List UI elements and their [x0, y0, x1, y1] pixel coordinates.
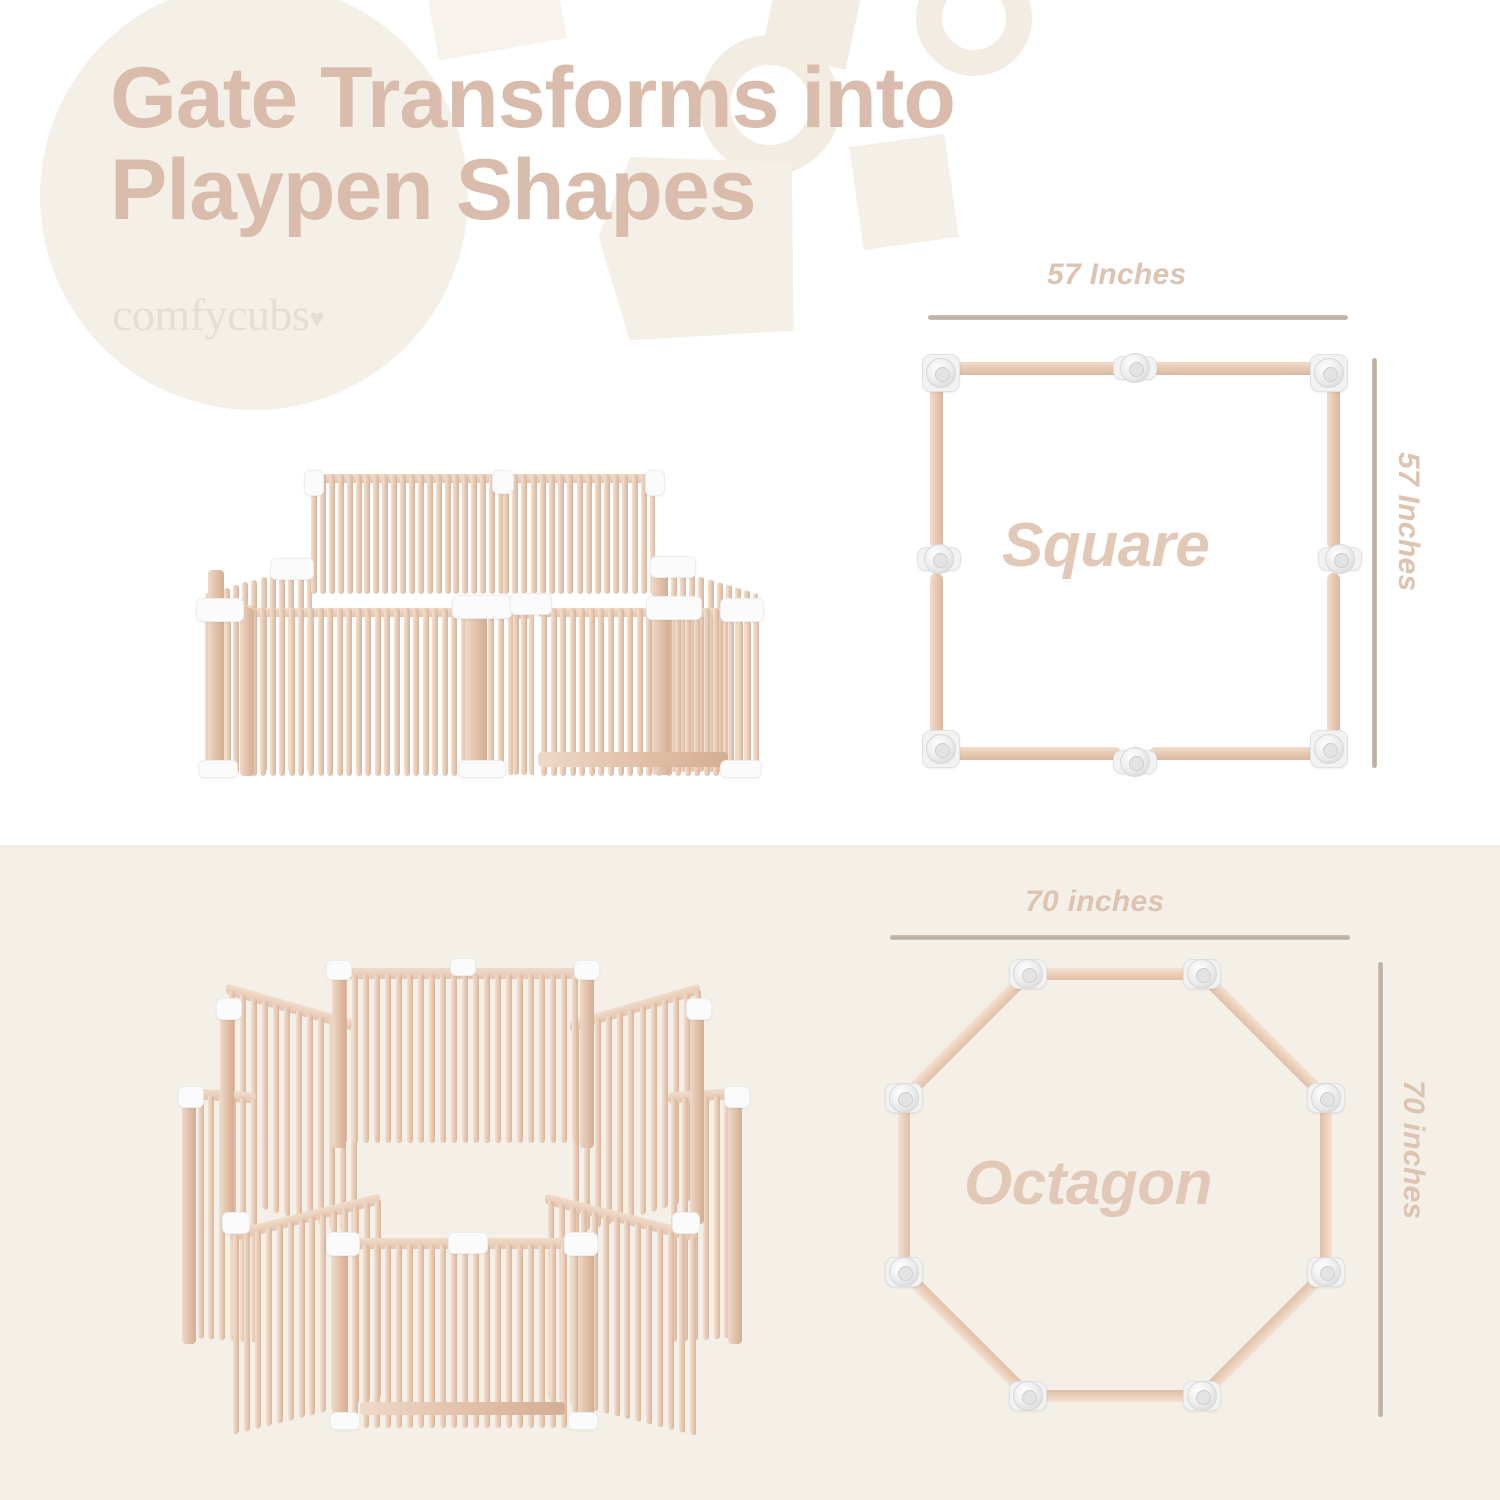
- octagon-vertex-knob-6: [1013, 1381, 1043, 1411]
- oct-panel-front-left-slat: [244, 1232, 250, 1432]
- oct-panel-front-slat: [539, 1244, 545, 1428]
- oct-panel-front-slat: [385, 1244, 391, 1428]
- oct-post-left-upper: [220, 1002, 234, 1224]
- oct-panel-front-slat: [407, 1244, 413, 1428]
- octagon-height-label: 70 inches: [1396, 1080, 1430, 1219]
- pen-panel-front-right-slat: [541, 608, 547, 776]
- oct-panel-front-slat: [495, 1244, 501, 1428]
- octagon-segment-8: [908, 978, 1024, 1094]
- oct-hinge-back-right: [574, 960, 600, 980]
- pen-hinge-back-top-right: [645, 470, 665, 496]
- pen-panel-back-center-left-slat: [480, 474, 486, 594]
- pen-panel-front-left-slat: [375, 608, 381, 776]
- octagon-segment-6: [908, 1276, 1024, 1392]
- square-bar-bottom-left: [940, 747, 1121, 760]
- square-height-label: 57 Inches: [1391, 452, 1425, 591]
- pen-panel-back-center-right-slat: [512, 474, 518, 594]
- pen-hinge-front-left-corner: [196, 598, 244, 622]
- pen-panel-front-right-slat: [627, 608, 633, 776]
- oct-panel-back-slat: [418, 974, 424, 1143]
- oct-panel-front-slat: [462, 1244, 468, 1428]
- octagon-segment-1: [1039, 968, 1192, 980]
- oct-panel-back-slat: [572, 974, 578, 1143]
- oct-panel-back-right-slat: [662, 999, 668, 1210]
- oct-panel-back-right-slat: [606, 1015, 612, 1226]
- oct-panel-back-slat: [561, 974, 567, 1143]
- square-mid-hinge-right-knob: [1325, 544, 1355, 574]
- oct-panel-front-slat: [396, 1244, 402, 1428]
- square-bar-left-bottom: [930, 573, 943, 746]
- pen-panel-back-center-right-slat: [531, 474, 537, 594]
- pen-panel-front-left-slat: [270, 608, 276, 776]
- pen-panel-front-gate-edge-slat: [529, 610, 534, 775]
- pen-panel-back-center-right-slat: [577, 474, 583, 594]
- pen-panel-front-left-slat: [298, 608, 304, 776]
- pen-panel-back-center-right-slat: [632, 474, 638, 594]
- oct-panel-front-slat: [506, 1244, 512, 1428]
- pen-panel-front-right-slat: [579, 608, 585, 776]
- square-mid-hinge-left-knob: [924, 544, 954, 574]
- oct-hinge-front-right-outer: [672, 1212, 700, 1234]
- oct-panel-back-slat: [374, 974, 380, 1143]
- oct-panel-back-slat: [462, 974, 468, 1143]
- oct-panel-back-slat: [440, 974, 446, 1143]
- octagon-segment-7: [898, 1109, 910, 1262]
- pen-panel-back-center-left-slat: [436, 474, 442, 594]
- oct-panel-back-left-slat: [262, 1000, 268, 1211]
- octagon-vertex-knob-4: [1311, 1257, 1341, 1287]
- pen-panel-front-gate-edge: [510, 610, 534, 775]
- pen-panel-front-left-slat: [327, 608, 333, 776]
- pen-panel-back-center-right-slat: [549, 474, 555, 594]
- oct-panel-front-left-slat: [288, 1221, 294, 1421]
- pen-panel-front-left-slat: [413, 608, 419, 776]
- pen-hinge-front-right-corner: [646, 596, 702, 620]
- oct-panel-back-slat: [495, 974, 501, 1143]
- oct-panel-front-left-slat: [309, 1215, 315, 1415]
- pen-panel-side-right-slat: [754, 608, 759, 776]
- pen-panel-back-center-right-slat: [595, 474, 601, 594]
- pen-panel-front-left-slat: [432, 608, 438, 776]
- octagon-segment-2: [1206, 978, 1322, 1094]
- oct-panel-front-slat: [418, 1244, 424, 1428]
- pen-hinge-back-top-left: [304, 470, 324, 496]
- octagon-width-measure-line: [890, 935, 1350, 940]
- pen-panel-front-left-slat: [337, 608, 343, 776]
- pen-panel-back-center-left-slat: [373, 474, 379, 594]
- pen-panel-back-center-left-slat: [453, 474, 459, 594]
- square-shape-diagram: Square: [920, 352, 1350, 770]
- oct-panel-back: [338, 968, 588, 1143]
- oct-post-right-upper: [690, 1002, 704, 1224]
- pen-panel-front-left-slat: [356, 608, 362, 776]
- oct-panel-back-slat: [484, 974, 490, 1143]
- oct-panel-front-slat: [517, 1244, 523, 1428]
- oct-panel-back-left-slat: [307, 1012, 313, 1223]
- pen-panel-front-gate-post-slat: [498, 610, 504, 775]
- oct-panel-left-slat: [198, 1094, 204, 1338]
- oct-panel-front-right-slat: [690, 1235, 696, 1435]
- pen-panel-front-right-slat: [675, 608, 681, 776]
- pen-panel-front-right-slat: [694, 608, 700, 776]
- square-bar-right-bottom: [1327, 573, 1340, 746]
- oct-panel-back-left-slat: [284, 1006, 290, 1217]
- pen-panel-back-center-right-slat: [622, 474, 628, 594]
- pen-panel-front-left: [238, 608, 466, 776]
- pen-panel-back-center-left-slat: [329, 474, 335, 594]
- pen-hinge-front-center-right: [510, 593, 552, 615]
- square-bar-bottom-right: [1149, 747, 1330, 760]
- pen-panel-front-gate-post-slat: [488, 610, 494, 775]
- pen-panel-back-center-right-slat: [521, 474, 527, 594]
- oct-panel-back-slat: [429, 974, 435, 1143]
- oct-panel-back-left-slat: [318, 1016, 324, 1227]
- square-corner-hinge-top-right-knob: [1314, 358, 1344, 388]
- pen-panel-front-right-slat: [618, 608, 624, 776]
- oct-panel-front-right-slat: [646, 1225, 652, 1425]
- pen-panel-front-right-slat: [560, 608, 566, 776]
- oct-post-front-right: [578, 1240, 594, 1430]
- square-bar-left-top: [930, 376, 943, 549]
- pen-panel-front-left-slat: [423, 608, 429, 776]
- square-bar-right-top: [1327, 376, 1340, 549]
- oct-panel-back-slat: [396, 974, 402, 1143]
- oct-panel-front-right-slat: [635, 1222, 641, 1422]
- square-mid-hinge-top-knob: [1120, 353, 1150, 383]
- pen-panel-back-center-left-slat: [418, 474, 424, 594]
- oct-hinge-front-right: [564, 1232, 598, 1256]
- oct-hinge-right-lower: [724, 1086, 750, 1108]
- octagon-playpen-render: [160, 950, 760, 1440]
- oct-hinge-back-left: [326, 960, 352, 980]
- pen-hinge-side-right: [720, 598, 764, 622]
- pen-panel-front-right-slat: [637, 608, 643, 776]
- oct-panel-front-right-slat: [603, 1214, 609, 1414]
- pen-panel-back-center-left-slat: [347, 474, 353, 594]
- oct-panel-back-slat: [385, 974, 391, 1143]
- oct-panel-front-slat: [550, 1244, 556, 1428]
- pen-panel-back-center-right-slat: [613, 474, 619, 594]
- oct-post-right-lower: [728, 1092, 742, 1344]
- oct-panel-back-right-slat: [628, 1008, 634, 1219]
- oct-panel-back-slat: [451, 974, 457, 1143]
- pen-panel-front-left-slat: [451, 608, 457, 776]
- pen-panel-front-left-slat: [308, 608, 314, 776]
- pen-panel-back-center-left-slat: [471, 474, 477, 594]
- pen-panel-side-left-slat: [225, 605, 231, 773]
- octagon-playpen-photo: [160, 950, 760, 1440]
- pen-panel-back-center-right-slat: [567, 474, 573, 594]
- oct-panel-front-slat: [352, 1244, 358, 1428]
- square-bar-top-right: [1149, 362, 1330, 375]
- octagon-vertex-knob-3: [1311, 1083, 1341, 1113]
- oct-hinge-front-left: [326, 1232, 360, 1256]
- pen-panel-side-right-slat: [745, 608, 751, 776]
- oct-panel-front-slat: [451, 1244, 457, 1428]
- pen-panel-front-right-slat: [551, 608, 557, 776]
- oct-hinge-front-center: [448, 1232, 488, 1254]
- square-corner-hinge-bottom-right-knob: [1314, 734, 1344, 764]
- oct-panel-front-left-slat: [277, 1224, 283, 1424]
- oct-panel-back-slat: [352, 974, 358, 1143]
- pen-panel-back-center-left-slat: [445, 474, 451, 594]
- pen-hinge-back-top-center: [492, 470, 514, 494]
- pen-hinge-mid-left-upper: [270, 558, 314, 580]
- octagon-shape-name: Octagon: [964, 1148, 1212, 1219]
- pen-panel-back-center-right-slat: [540, 474, 546, 594]
- octagon-segment-5: [1039, 1390, 1192, 1402]
- oct-post-back-left: [332, 966, 346, 1148]
- pen-panel-front-right-slat: [704, 608, 710, 776]
- oct-post-front-left: [332, 1240, 348, 1430]
- pen-panel-front-left-slat: [442, 608, 448, 776]
- oct-panel-back-slat: [539, 974, 545, 1143]
- pen-panel-back-center-right-slat: [604, 474, 610, 594]
- pen-panel-side-right: [725, 608, 759, 776]
- square-bar-top-left: [940, 362, 1121, 375]
- pen-hinge-mid-right-upper: [650, 556, 696, 578]
- oct-panel-back-right-slat: [640, 1005, 646, 1216]
- oct-panel-front-right-slat: [657, 1227, 663, 1427]
- octagon-vertex-knob-5: [1187, 1381, 1217, 1411]
- pen-panel-back-center-left-slat: [427, 474, 433, 594]
- rectangular-playpen-render: [180, 430, 780, 775]
- pen-panel-front-right-slat: [608, 608, 614, 776]
- pen-hinge-bottom-left: [198, 760, 238, 778]
- octagon-shape-diagram: Octagon: [880, 950, 1350, 1420]
- pen-panel-back-center-left-slat: [462, 474, 468, 594]
- octagon-vertex-knob-1: [1013, 959, 1043, 989]
- oct-panel-right-slat: [714, 1095, 720, 1339]
- pen-panel-back-center-left-slat: [364, 474, 370, 594]
- pen-panel-front-right: [538, 608, 728, 776]
- pen-panel-back-center-right-slat: [558, 474, 564, 594]
- oct-panel-back-slat: [528, 974, 534, 1143]
- pen-panel-back-center-left-slat: [391, 474, 397, 594]
- pen-panel-back-center-left-slat: [400, 474, 406, 594]
- oct-panel-back-left-slat: [273, 1003, 279, 1214]
- pen-panel-front-right-slat: [685, 608, 691, 776]
- pen-hinge-bottom-right: [720, 760, 762, 778]
- oct-gate-bottom-sill: [360, 1402, 565, 1415]
- pen-post-gate-left: [465, 612, 487, 774]
- oct-post-back-right: [580, 966, 594, 1148]
- oct-hinge-left-lower: [178, 1086, 204, 1108]
- octagon-segment-4: [1206, 1276, 1322, 1392]
- oct-panel-front-left-slat: [266, 1226, 272, 1426]
- square-shape-name: Square: [1002, 510, 1209, 581]
- oct-panel-front-left-slat: [233, 1234, 239, 1434]
- pen-gate-bottom-sill: [538, 752, 728, 767]
- pen-post-front-left: [240, 608, 254, 776]
- page-title: Gate Transforms into Playpen Shapes: [110, 52, 1270, 236]
- square-width-label: 57 Inches: [1047, 258, 1186, 292]
- pen-panel-front-left-slat: [365, 608, 371, 776]
- pen-panel-side-right-slat: [728, 608, 734, 776]
- pen-panel-front-right-slat: [598, 608, 604, 776]
- pen-panel-front-left-slat: [318, 608, 324, 776]
- oct-hinge-right-upper: [686, 998, 712, 1020]
- pen-panel-front-right-slat: [713, 608, 719, 776]
- brand-logo: comfycubs♥: [112, 288, 324, 341]
- oct-panel-front-slat: [429, 1244, 435, 1428]
- oct-panel-front-slat: [440, 1244, 446, 1428]
- oct-hinge-back-center: [450, 958, 476, 976]
- oct-panel-back-right-slat: [651, 1002, 657, 1213]
- pen-panel-back-center-left-slat: [356, 474, 362, 594]
- oct-panel-back-slat: [407, 974, 413, 1143]
- pen-hinge-front-center-left: [452, 595, 512, 619]
- pen-panel-back-center-left: [308, 474, 503, 594]
- oct-hinge-front-left-outer: [222, 1212, 250, 1234]
- pen-panel-front-left-slat: [384, 608, 390, 776]
- square-corner-hinge-bottom-left-knob: [926, 734, 956, 764]
- square-mid-hinge-bottom-knob: [1120, 747, 1150, 777]
- brand-name: comfycubs: [112, 289, 309, 340]
- pen-panel-back-center-left-slat: [382, 474, 388, 594]
- oct-panel-back-slat: [550, 974, 556, 1143]
- oct-panel-front-slat: [561, 1244, 567, 1428]
- rectangular-playpen-photo: [180, 430, 780, 775]
- pen-panel-front-left-slat: [279, 608, 285, 776]
- pen-panel-front-left-slat: [289, 608, 295, 776]
- oct-panel-front-slat: [484, 1244, 490, 1428]
- pen-panel-front-gate-edge-slat: [521, 610, 527, 775]
- oct-panel-front-slat: [374, 1244, 380, 1428]
- oct-panel-back-right-slat: [595, 1018, 601, 1229]
- oct-panel-back-slat: [517, 974, 523, 1143]
- oct-panel-left-slat: [208, 1095, 214, 1339]
- oct-panel-back-slat: [506, 974, 512, 1143]
- pen-panel-front-left-slat: [260, 608, 266, 776]
- oct-panel-front-left-slat: [255, 1229, 261, 1429]
- octagon-segment-3: [1320, 1109, 1332, 1262]
- pen-panel-side-right-slat: [737, 608, 743, 776]
- pen-post-front-right: [652, 605, 670, 775]
- pen-panel-back-center-right: [500, 474, 655, 594]
- octagon-height-measure-line: [1378, 962, 1383, 1417]
- pen-panel-back-center-right-slat: [586, 474, 592, 594]
- oct-hinge-left-upper: [216, 998, 242, 1020]
- oct-panel-front-right-slat: [614, 1216, 620, 1416]
- oct-panel-back-left-slat: [296, 1009, 302, 1220]
- pen-panel-front-right-slat: [589, 608, 595, 776]
- octagon-width-label: 70 inches: [1025, 885, 1164, 919]
- octagon-vertex-knob-8: [889, 1083, 919, 1113]
- oct-hinge-bottom-left: [330, 1412, 360, 1430]
- oct-hinge-bottom-right: [568, 1412, 598, 1430]
- pen-panel-front-right-slat: [570, 608, 576, 776]
- oct-panel-back-slat: [363, 974, 369, 1143]
- pen-panel-front-left-slat: [404, 608, 410, 776]
- pen-panel-front-left-slat: [394, 608, 400, 776]
- oct-panel-front-right-slat: [668, 1230, 674, 1430]
- oct-panel-front: [338, 1238, 588, 1428]
- oct-panel-front-slat: [473, 1244, 479, 1428]
- oct-panel-front-slat: [528, 1244, 534, 1428]
- oct-panel-front-left-slat: [299, 1218, 305, 1418]
- oct-panel-back-slat: [473, 974, 479, 1143]
- pen-panel-back-center-left-slat: [409, 474, 415, 594]
- oct-panel-front-right-slat: [624, 1219, 630, 1419]
- oct-panel-front-slat: [363, 1244, 369, 1428]
- pen-panel-front-gate-edge-slat: [513, 610, 519, 775]
- pen-hinge-bottom-center: [458, 760, 506, 778]
- square-width-measure-line: [928, 315, 1348, 320]
- square-height-measure-line: [1372, 358, 1377, 768]
- oct-panel-front-right-slat: [679, 1233, 685, 1433]
- pen-panel-front-left-slat: [346, 608, 352, 776]
- heart-icon: ♥: [309, 304, 324, 333]
- pen-panel-back-center-left-slat: [338, 474, 344, 594]
- product-infographic: Gate Transforms into Playpen Shapes comf…: [0, 0, 1500, 1500]
- square-corner-hinge-top-left-knob: [926, 358, 956, 388]
- oct-post-left-lower: [182, 1092, 196, 1344]
- oct-panel-back-right-slat: [617, 1011, 623, 1222]
